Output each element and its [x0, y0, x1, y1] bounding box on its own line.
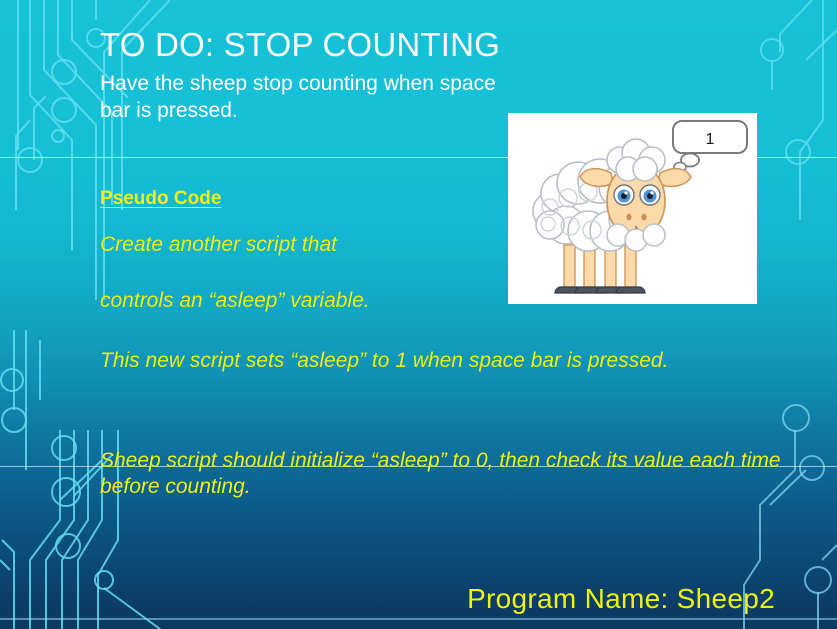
footer-program-name: Program Name: Sheep2 — [467, 583, 775, 615]
sheep-illustration-panel: 1 — [508, 113, 757, 304]
pseudo-code-line-2: controls an “asleep” variable. — [100, 288, 370, 314]
divider-footer — [0, 618, 837, 620]
pseudo-code-line-1: Create another script that — [100, 232, 337, 258]
pseudo-code-line-4: Sheep script should initialize “asleep” … — [100, 448, 800, 500]
sheep-legs — [555, 245, 645, 293]
page-title: TO DO: STOP COUNTING — [100, 26, 500, 64]
page-subtitle: Have the sheep stop counting when space … — [100, 70, 520, 124]
thought-bubble-value: 1 — [706, 131, 715, 148]
slide: TO DO: STOP COUNTING Have the sheep stop… — [0, 0, 837, 629]
thought-bubble-icon: 1 — [668, 121, 747, 176]
pseudo-code-line-3: This new script sets “asleep” to 1 when … — [100, 348, 800, 374]
pseudo-code-heading: Pseudo Code — [100, 188, 221, 210]
sheep-illustration: 1 — [508, 113, 757, 304]
